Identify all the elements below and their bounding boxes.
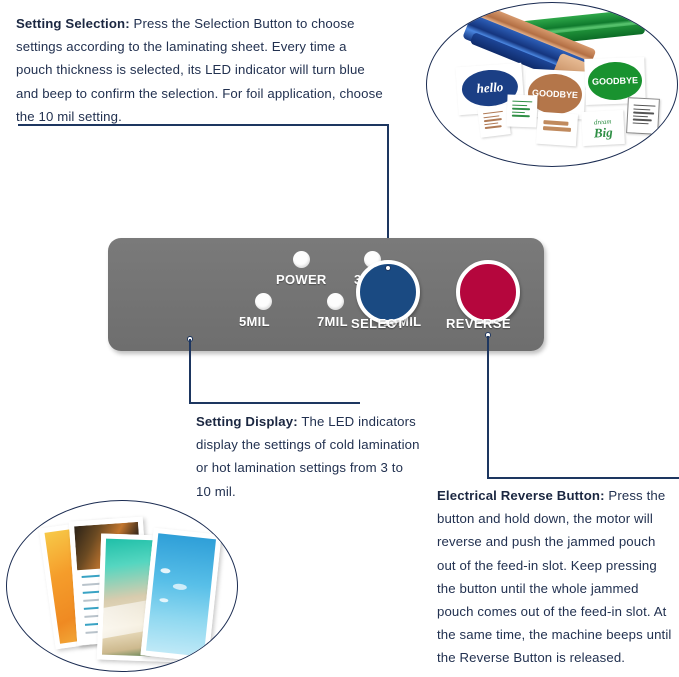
pouch-card-text-2 [506, 94, 537, 127]
photo-foil-pouches-content: hello GOODBYE GOODBYE [427, 3, 677, 166]
connector-setting-display-horizontal [189, 402, 360, 404]
laminated-sheet-sky [140, 528, 221, 662]
photo-laminated-sheets [6, 500, 238, 672]
photo-foil-pouches: hello GOODBYE GOODBYE [426, 2, 678, 167]
led-power [293, 251, 310, 268]
led-label-5mil: 5MIL [239, 314, 270, 329]
connector-dot-select [385, 265, 391, 271]
led-7mil [327, 293, 344, 310]
tiny-text-4 [632, 104, 655, 127]
led-label-power: POWER [276, 272, 327, 287]
led-5mil [255, 293, 272, 310]
pouch-card-dream-big: dream Big [581, 110, 625, 146]
laminator-control-panel: POWER 3MIL 5MIL 7MIL 10MIL SELECT REVERS… [108, 238, 544, 351]
annotation-setting-selection-body: Press the Selection Button to choose set… [16, 16, 383, 124]
annotation-reverse-button-lead: Electrical Reverse Button: [437, 488, 605, 503]
tiny-text-1 [483, 111, 505, 131]
connector-setting-display-vertical [189, 339, 191, 403]
annotation-setting-selection: Setting Selection: Press the Selection B… [16, 12, 386, 128]
pouch-card-text-3 [536, 112, 578, 147]
pouch-card-text-4 [626, 97, 660, 135]
tiny-text-2 [512, 101, 533, 120]
tiny-text-3 [543, 120, 572, 134]
laminated-sheet-sky-image [146, 533, 216, 656]
connector-setting-selection-underline [18, 124, 389, 126]
led-label-7mil: 7MIL [317, 314, 348, 329]
badge-goodbye-green: GOODBYE [587, 61, 642, 101]
badge-dream-big: Big [593, 125, 612, 139]
annotation-setting-display-lead: Setting Display: [196, 414, 298, 429]
connector-reverse-horizontal [487, 477, 679, 479]
annotation-setting-selection-lead: Setting Selection: [16, 16, 130, 31]
connector-reverse-vertical [487, 336, 489, 478]
annotation-setting-display: Setting Display: The LED indicators disp… [196, 410, 421, 503]
annotation-reverse-button-body: Press the button and hold down, the moto… [437, 488, 671, 665]
reverse-button-label: REVERSE [446, 316, 511, 331]
annotation-reverse-button: Electrical Reverse Button: Press the but… [437, 484, 672, 670]
select-button-label: SELECT [351, 316, 405, 331]
photo-laminated-sheets-content [7, 501, 237, 671]
reverse-button[interactable] [456, 260, 520, 324]
